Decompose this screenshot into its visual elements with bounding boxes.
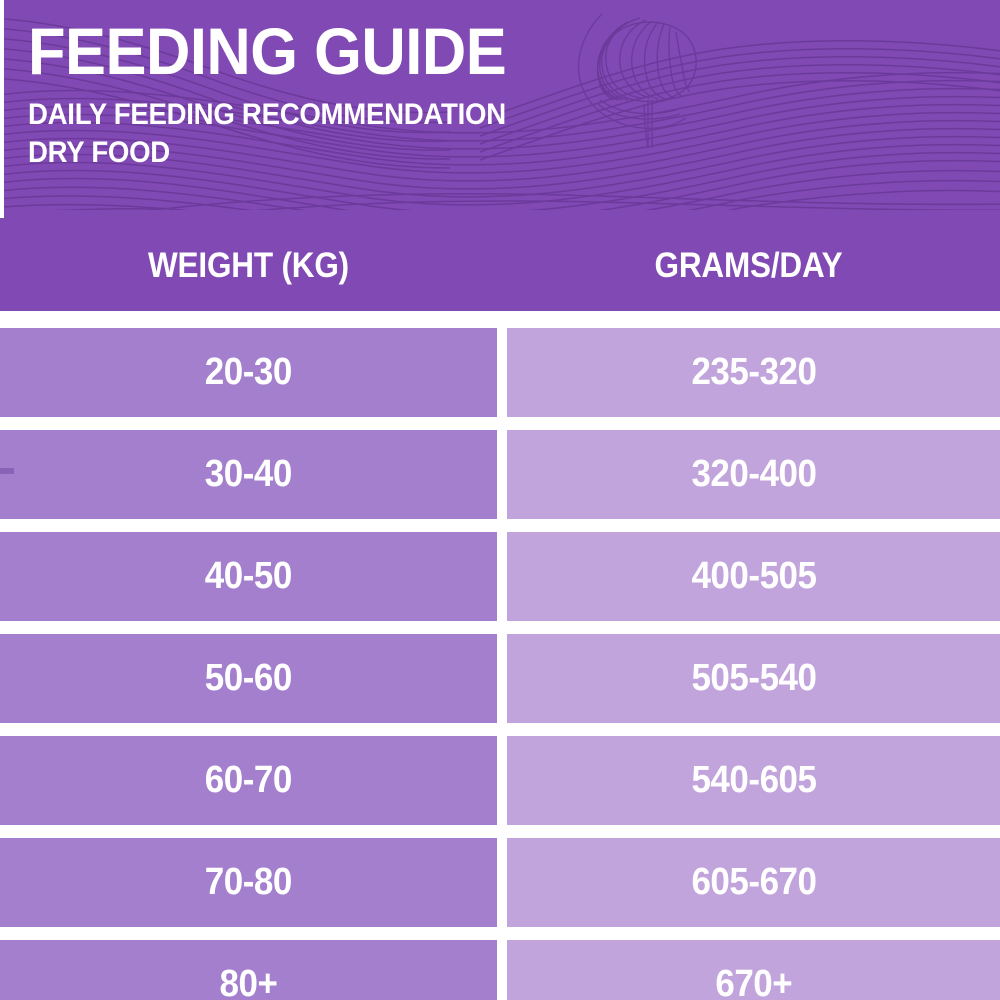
cell-weight-value: 40-50 — [205, 555, 292, 598]
cell-grams-value: 540-605 — [691, 759, 816, 802]
feeding-table: 20-30 235-320 30-40 320-400 40-50 400-50 — [0, 328, 1000, 1000]
column-gap — [497, 532, 507, 621]
table-row: 50-60 505-540 — [0, 634, 1000, 723]
column-gap — [497, 838, 507, 927]
cell-grams-value: 670+ — [715, 963, 792, 1000]
column-header-weight: WEIGHT (KG) — [25, 236, 472, 296]
cell-weight: 20-30 — [0, 328, 497, 417]
column-gap — [497, 940, 507, 1000]
cell-grams: 605-670 — [507, 838, 1000, 927]
table-row: 80+ 670+ — [0, 940, 1000, 1000]
header-left-edge-strip — [0, 0, 4, 218]
column-gap — [497, 328, 507, 417]
page-title: FEEDING GUIDE — [28, 20, 511, 83]
page-subtitle-line-2: DRY FOOD — [28, 135, 506, 172]
cell-grams-value: 235-320 — [691, 351, 816, 394]
column-header-row: WEIGHT (KG) GRAMS/DAY — [0, 236, 1000, 296]
table-row: 30-40 320-400 — [0, 430, 1000, 519]
cell-grams: 235-320 — [507, 328, 1000, 417]
cell-grams-value: 505-540 — [691, 657, 816, 700]
cell-grams: 670+ — [507, 940, 1000, 1000]
cell-grams: 320-400 — [507, 430, 1000, 519]
column-gap — [497, 634, 507, 723]
cell-weight: 70-80 — [0, 838, 497, 927]
edge-artifact-mark — [0, 468, 14, 474]
cell-weight: 80+ — [0, 940, 497, 1000]
cell-weight-value: 80+ — [220, 963, 278, 1000]
table-row: 20-30 235-320 — [0, 328, 1000, 417]
header-banner: FEEDING GUIDE DAILY FEEDING RECOMMENDATI… — [0, 0, 1000, 311]
page-subtitle-line-1: DAILY FEEDING RECOMMENDATION — [28, 97, 506, 134]
cell-weight-value: 50-60 — [205, 657, 292, 700]
table-row: 40-50 400-505 — [0, 532, 1000, 621]
table-row: 60-70 540-605 — [0, 736, 1000, 825]
cell-grams-value: 400-505 — [691, 555, 816, 598]
cell-weight-value: 30-40 — [205, 453, 292, 496]
cell-weight-value: 70-80 — [205, 861, 292, 904]
title-block: FEEDING GUIDE DAILY FEEDING RECOMMENDATI… — [28, 20, 547, 172]
column-header-grams: GRAMS/DAY — [522, 236, 975, 296]
feeding-guide-page: FEEDING GUIDE DAILY FEEDING RECOMMENDATI… — [0, 0, 1000, 1000]
cell-weight: 40-50 — [0, 532, 497, 621]
table-row: 70-80 605-670 — [0, 838, 1000, 927]
cell-weight-value: 60-70 — [205, 759, 292, 802]
cell-weight: 50-60 — [0, 634, 497, 723]
cell-grams: 400-505 — [507, 532, 1000, 621]
cell-grams-value: 605-670 — [691, 861, 816, 904]
column-gap — [497, 430, 507, 519]
cell-grams-value: 320-400 — [691, 453, 816, 496]
column-gap — [497, 736, 507, 825]
cell-weight: 60-70 — [0, 736, 497, 825]
cell-grams: 505-540 — [507, 634, 1000, 723]
cell-weight-value: 20-30 — [205, 351, 292, 394]
cell-grams: 540-605 — [507, 736, 1000, 825]
cell-weight: 30-40 — [0, 430, 497, 519]
